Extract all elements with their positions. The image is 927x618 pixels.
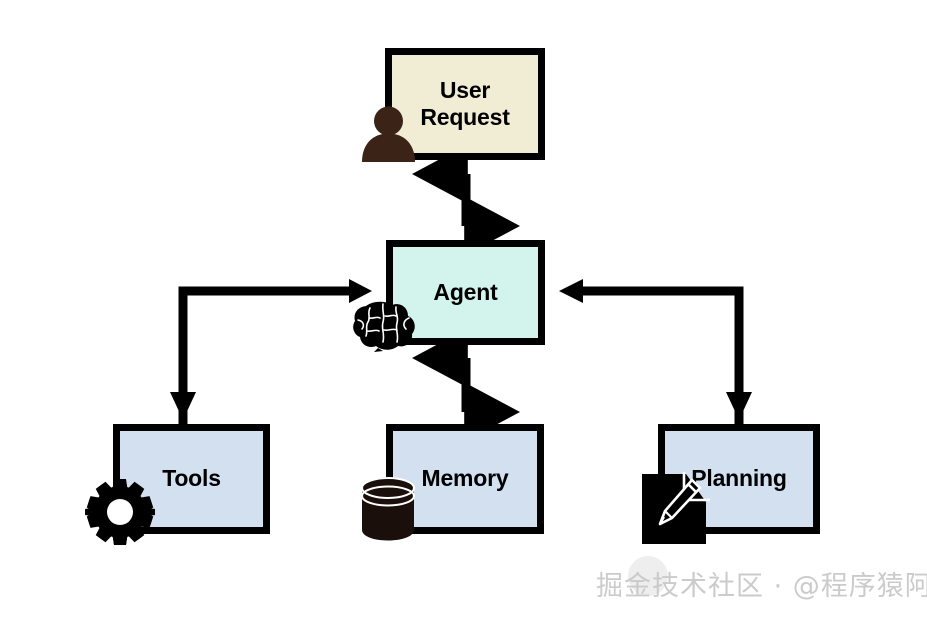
watermark-text: 掘金技术社区 · @程序猿阿三	[596, 562, 916, 604]
arrow-tools-to-agent	[183, 279, 372, 424]
node-agent-label: Agent	[433, 279, 497, 306]
node-user-request-label-line1: User	[420, 77, 509, 104]
arrow-agent-to-planning	[726, 300, 752, 420]
node-user-request-label-line2: Request	[420, 104, 509, 131]
node-tools[interactable]: Tools	[113, 424, 270, 534]
arrow-planning-to-agent	[559, 279, 739, 424]
node-tools-label: Tools	[162, 465, 221, 492]
node-planning[interactable]: Planning	[658, 424, 820, 534]
node-agent[interactable]: Agent	[386, 240, 545, 345]
node-memory-label: Memory	[422, 465, 509, 492]
node-user-request[interactable]: User Request	[385, 48, 545, 160]
diagram-canvas: User Request Agent Tools Memory Planning	[0, 0, 927, 618]
arrow-agent-to-tools	[170, 300, 196, 420]
node-memory[interactable]: Memory	[386, 424, 544, 534]
node-planning-label: Planning	[691, 465, 787, 492]
